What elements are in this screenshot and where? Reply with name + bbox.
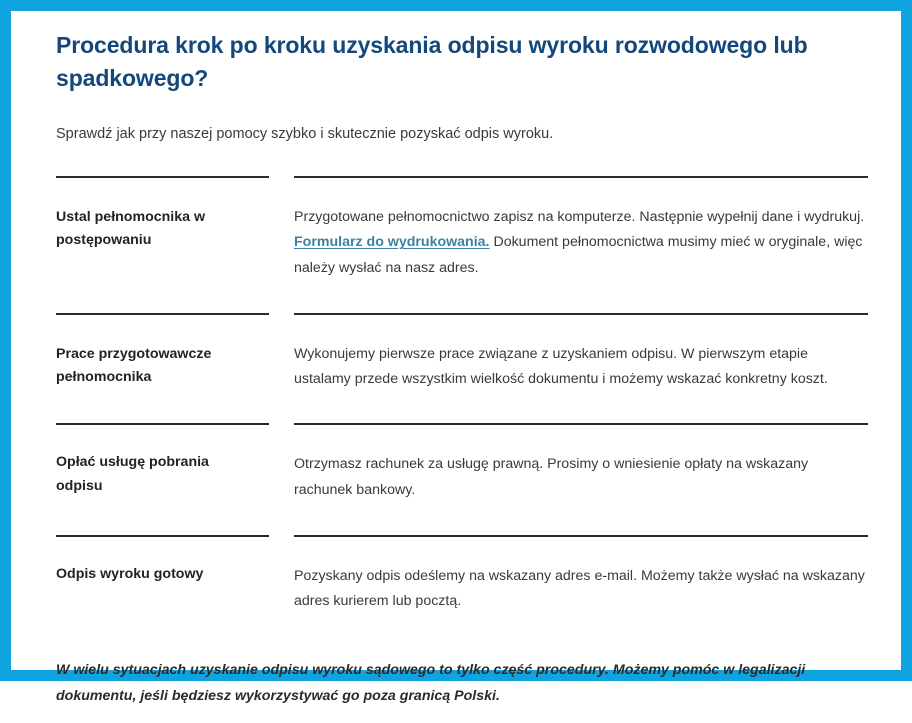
page-intro: Sprawdź jak przy naszej pomocy szybko i … (56, 124, 868, 146)
step-label: Opłać usługę pobrania odpisu (56, 423, 269, 530)
page-title: Procedura krok po kroku uzyskania odpisu… (56, 29, 816, 94)
page-frame: Procedura krok po kroku uzyskania odpisu… (0, 0, 912, 681)
step-row: Opłać usługę pobrania odpisu Otrzymasz r… (56, 423, 868, 535)
step-description: Pozyskany odpis odeślemy na wskazany adr… (294, 535, 868, 615)
step-label: Odpis wyroku gotowy (56, 535, 269, 586)
printable-form-link[interactable]: Formularz do wydrukowania. (294, 234, 490, 250)
procedure-steps-list: Ustal pełnomocnika w postępowaniu Przygo… (56, 176, 868, 615)
step-description: Przygotowane pełnomocnictwo zapisz na ko… (294, 176, 868, 313)
step-description-text-before-link: Przygotowane pełnomocnictwo zapisz na ko… (294, 209, 864, 225)
footer-note: W wielu sytuacjach uzyskanie odpisu wyro… (56, 657, 868, 710)
step-row: Odpis wyroku gotowy Pozyskany odpis odeś… (56, 535, 868, 615)
step-label: Ustal pełnomocnika w postępowaniu (56, 176, 269, 285)
step-row: Prace przygotowawcze pełnomocnika Wykonu… (56, 313, 868, 424)
step-label: Prace przygotowawcze pełnomocnika (56, 313, 269, 421)
step-description: Otrzymasz rachunek za usługę prawną. Pro… (294, 423, 868, 535)
step-row: Ustal pełnomocnika w postępowaniu Przygo… (56, 176, 868, 313)
content-area: Procedura krok po kroku uzyskania odpisu… (56, 29, 868, 723)
step-description: Wykonujemy pierwsze prace związane z uzy… (294, 313, 868, 424)
